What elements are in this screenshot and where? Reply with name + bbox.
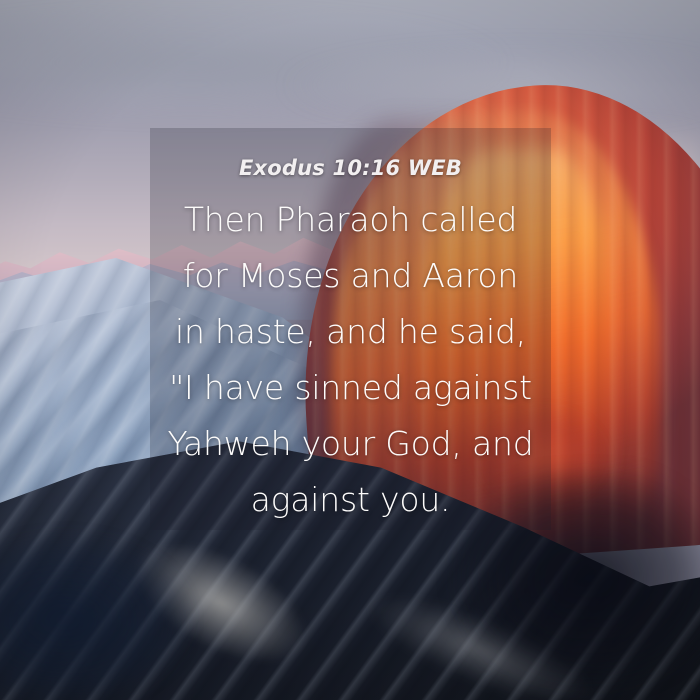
- verse-line: "I have sinned against: [150, 360, 551, 416]
- verse-image-card: Exodus 10:16 WEB Then Pharaoh called for…: [0, 0, 700, 700]
- verse-line: against you.: [150, 472, 551, 528]
- verse-line: Yahweh your God, and: [150, 416, 551, 472]
- verse-overlay-panel: Exodus 10:16 WEB Then Pharaoh called for…: [150, 128, 551, 530]
- verse-line: in haste, and he said,: [150, 304, 551, 360]
- verse-text: Then Pharaoh called for Moses and Aaron …: [150, 192, 551, 528]
- verse-line: for Moses and Aaron: [150, 248, 551, 304]
- verse-reference: Exodus 10:16 WEB: [239, 156, 462, 180]
- verse-line: Then Pharaoh called: [150, 192, 551, 248]
